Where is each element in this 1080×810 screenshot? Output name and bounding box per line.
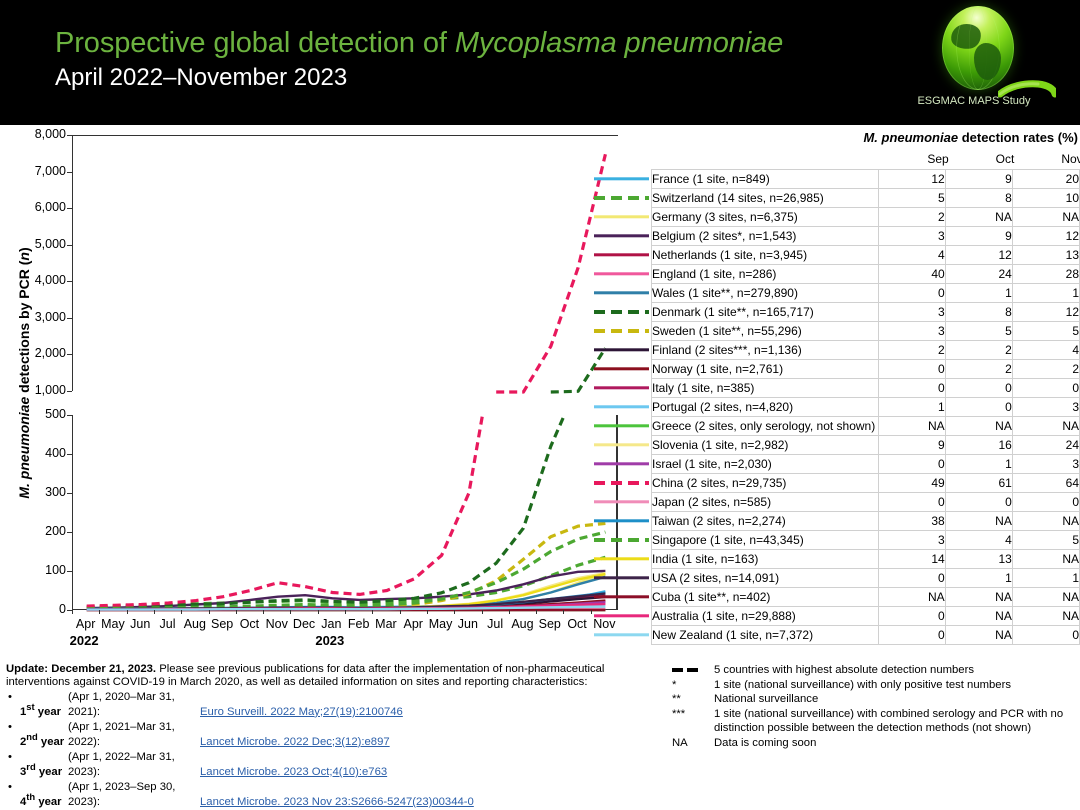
y-tick-label: 7,000 xyxy=(8,165,66,178)
table-row[interactable]: Finland (2 sites***, n=1,136)224 xyxy=(651,341,1080,360)
table-country-label: Cuba (1 site**, n=402) xyxy=(652,588,879,607)
legend-line xyxy=(594,405,649,408)
table-value-oct: 8 xyxy=(945,303,1012,322)
table-country-label: China (2 sites, n=29,735) xyxy=(652,474,879,493)
table-country-label: England (1 site, n=286) xyxy=(652,265,879,284)
publication-row: 1st year(Apr 1, 2020–Mar 31, 2021):Euro … xyxy=(6,690,626,720)
legend-line xyxy=(594,614,649,617)
table-title-rest: detection rates (%) xyxy=(958,130,1078,145)
legend-line xyxy=(594,348,649,351)
table-value-oct: 12 xyxy=(945,246,1012,265)
table-row[interactable]: Wales (1 site**, n=279,890)011 xyxy=(651,284,1080,303)
series-line xyxy=(496,154,605,392)
table-value-oct: NA xyxy=(945,607,1012,626)
table-value-nov: NA xyxy=(1012,208,1079,227)
legend-swatch-cell xyxy=(651,455,652,474)
legend-swatch-cell xyxy=(651,588,652,607)
legend-line xyxy=(594,595,649,598)
y-tick-label: 5,000 xyxy=(8,238,66,251)
year-range: (Apr 1, 2021–Mar 31, 2022): xyxy=(68,720,200,750)
dashed-line-icon xyxy=(672,668,702,672)
legend-line xyxy=(594,386,649,389)
globe-meridian xyxy=(969,6,987,90)
table-value-oct: 24 xyxy=(945,265,1012,284)
y-tick-label: 100 xyxy=(8,564,66,577)
x-axis-year-label: 2023 xyxy=(315,633,344,648)
legend-swatch-cell xyxy=(651,246,652,265)
y-tick-label: 2,000 xyxy=(8,347,66,360)
x-tick-mark xyxy=(536,610,537,614)
table-country-label: Portugal (2 sites, n=4,820) xyxy=(652,398,879,417)
table-value-sep: 0 xyxy=(878,360,945,379)
legend-swatch-cell xyxy=(651,284,652,303)
table-value-sep: NA xyxy=(878,588,945,607)
table-value-nov: 0 xyxy=(1012,493,1079,512)
table-value-nov: 24 xyxy=(1012,436,1079,455)
legend-line xyxy=(594,310,649,314)
x-tick-mark xyxy=(400,610,401,614)
legend-line xyxy=(594,196,649,200)
legend-swatch-cell xyxy=(651,303,652,322)
x-axis-year-label: 2022 xyxy=(70,633,99,648)
year-ordinal: 2nd year xyxy=(20,729,68,750)
table-row[interactable]: Switzerland (14 sites, n=26,985)5810 xyxy=(651,189,1080,208)
table-value-sep: 12 xyxy=(878,170,945,189)
citation-link[interactable]: Euro Surveill. 2022 May;27(19):2100746 xyxy=(200,706,403,718)
table-value-sep: 14 xyxy=(878,550,945,569)
x-tick-mark xyxy=(127,610,128,614)
table-row[interactable]: Italy (1 site, n=385)000 xyxy=(651,379,1080,398)
table-row[interactable]: Israel (1 site, n=2,030)013 xyxy=(651,455,1080,474)
x-tick-mark xyxy=(290,610,291,614)
table-value-sep: 49 xyxy=(878,474,945,493)
citation-link[interactable]: Lancet Microbe. 2022 Dec;3(12):e897 xyxy=(200,736,390,748)
year-range: (Apr 1, 2022–Mar 31, 2023): xyxy=(68,750,200,780)
year-range: (Apr 1, 2023–Sep 30, 2023): xyxy=(68,780,200,810)
table-value-oct: 61 xyxy=(945,474,1012,493)
table-column-header: Nov xyxy=(1052,152,1080,166)
table-country-label: Belgium (2 sites*, n=1,543) xyxy=(652,227,879,246)
legend-swatch-cell xyxy=(651,626,652,645)
table-value-sep: 4 xyxy=(878,246,945,265)
footnote-text: 5 countries with highest absolute detect… xyxy=(714,664,974,676)
table-row[interactable]: Japan (2 sites, n=585)000 xyxy=(651,493,1080,512)
legend-swatch-cell xyxy=(651,512,652,531)
x-tick-label: Sep xyxy=(207,617,237,631)
footnote-marker: * xyxy=(672,678,708,693)
table-title: M. pneumoniae detection rates (%) xyxy=(620,130,1080,145)
table-country-label: Germany (3 sites, n=6,375) xyxy=(652,208,879,227)
table-row[interactable]: Australia (1 site, n=29,888)0NANA xyxy=(651,607,1080,626)
legend-swatch-cell xyxy=(651,474,652,493)
table-value-oct: 1 xyxy=(945,569,1012,588)
x-tick-mark xyxy=(263,610,264,614)
table-value-nov: 1 xyxy=(1012,569,1079,588)
table-value-oct: 5 xyxy=(945,322,1012,341)
legend-swatch-cell xyxy=(651,265,652,284)
x-tick-label: Apr xyxy=(398,617,428,631)
table-value-nov: 3 xyxy=(1012,398,1079,417)
publication-row: 2nd year(Apr 1, 2021–Mar 31, 2022):Lance… xyxy=(6,720,626,750)
table-value-sep: 2 xyxy=(878,208,945,227)
table-value-sep: 3 xyxy=(878,303,945,322)
legend-swatch-cell xyxy=(651,170,652,189)
table-row[interactable]: Germany (3 sites, n=6,375)2NANA xyxy=(651,208,1080,227)
x-tick-mark xyxy=(345,610,346,614)
table-value-nov: 12 xyxy=(1012,303,1079,322)
citation-link[interactable]: Lancet Microbe. 2023 Oct;4(10):e763 xyxy=(200,766,387,778)
x-tick-label: Dec xyxy=(289,617,319,631)
logo: ESGMAC MAPS Study xyxy=(902,2,1052,122)
footnote-marker: *** xyxy=(672,707,708,722)
table-country-label: Israel (1 site, n=2,030) xyxy=(652,455,879,474)
y-tick-label: 400 xyxy=(8,447,66,460)
table-value-sep: 9 xyxy=(878,436,945,455)
x-tick-label: Oct xyxy=(562,617,592,631)
table-country-label: USA (2 sites, n=14,091) xyxy=(652,569,879,588)
legend-line xyxy=(594,481,649,485)
legend-swatch-cell xyxy=(651,208,652,227)
table-value-sep: 3 xyxy=(878,322,945,341)
table-row[interactable]: China (2 sites, n=29,735)496164 xyxy=(651,474,1080,493)
table-value-oct: NA xyxy=(945,588,1012,607)
legend-line xyxy=(594,576,649,579)
table-row[interactable]: England (1 site, n=286)402428 xyxy=(651,265,1080,284)
table-value-nov: 13 xyxy=(1012,246,1079,265)
legend-line xyxy=(594,234,649,237)
x-tick-label: Jun xyxy=(453,617,483,631)
table-title-italic: M. pneumoniae xyxy=(863,130,958,145)
legend-line xyxy=(594,253,649,256)
update-note: Update: December 21, 2023. Please see pr… xyxy=(6,663,626,690)
table-value-nov: 3 xyxy=(1012,455,1079,474)
legend-line xyxy=(594,272,649,275)
legend-swatch-cell xyxy=(651,189,652,208)
footnote-row: NAData is coming soon xyxy=(672,736,1077,751)
x-tick-label: Jan xyxy=(316,617,346,631)
x-tick-label: Mar xyxy=(371,617,401,631)
table-row[interactable]: Cuba (1 site**, n=402)NANANA xyxy=(651,588,1080,607)
table-value-nov: 0 xyxy=(1012,379,1079,398)
legend-swatch-cell xyxy=(651,398,652,417)
legend-line xyxy=(594,177,649,180)
legend-line xyxy=(594,538,649,542)
table-value-sep: 0 xyxy=(878,626,945,645)
table-country-label: Denmark (1 site**, n=165,717) xyxy=(652,303,879,322)
x-tick-label: Aug xyxy=(507,617,537,631)
legend-line xyxy=(594,519,649,522)
y-tick-label: 6,000 xyxy=(8,201,66,214)
title-prefix: Prospective global detection of xyxy=(55,27,455,59)
legend-line xyxy=(594,291,649,294)
table-value-sep: 3 xyxy=(878,227,945,246)
table-value-nov: NA xyxy=(1012,588,1079,607)
y-tick-label: 8,000 xyxy=(8,128,66,141)
legend-line xyxy=(594,557,649,560)
table-value-oct: 0 xyxy=(945,379,1012,398)
plot-area-upper xyxy=(72,135,618,391)
table-value-oct: 0 xyxy=(945,493,1012,512)
table-value-oct: 0 xyxy=(945,398,1012,417)
table-row[interactable]: India (1 site, n=163)1413NA xyxy=(651,550,1080,569)
legend-swatch-cell xyxy=(651,379,652,398)
table-value-nov: NA xyxy=(1012,417,1079,436)
table-value-nov: NA xyxy=(1012,512,1079,531)
table-value-oct: 2 xyxy=(945,360,1012,379)
table-country-label: Switzerland (14 sites, n=26,985) xyxy=(652,189,879,208)
legend-swatch-cell xyxy=(651,550,652,569)
footnote-text: Data is coming soon xyxy=(714,737,816,749)
table-value-nov: 10 xyxy=(1012,189,1079,208)
table-value-nov: 64 xyxy=(1012,474,1079,493)
table-value-oct: 1 xyxy=(945,284,1012,303)
footnote-marker: ** xyxy=(672,692,708,707)
table-row[interactable]: USA (2 sites, n=14,091)011 xyxy=(651,569,1080,588)
page-title: Prospective global detection of Mycoplas… xyxy=(55,27,783,60)
table-value-nov: NA xyxy=(1012,607,1079,626)
x-tick-mark xyxy=(318,610,319,614)
year-ordinal: 1st year xyxy=(20,699,68,720)
logo-caption: ESGMAC MAPS Study xyxy=(904,95,1044,107)
footnote-row: *1 site (national surveillance) with onl… xyxy=(672,678,1077,693)
x-tick-label: Jul xyxy=(480,617,510,631)
publication-row: 3rd year(Apr 1, 2022–Mar 31, 2023):Lance… xyxy=(6,750,626,780)
footnote-marker: NA xyxy=(672,736,708,751)
x-tick-label: Oct xyxy=(234,617,264,631)
page-footer: Update: December 21, 2023. Please see pr… xyxy=(0,655,1080,748)
x-tick-mark xyxy=(591,610,592,614)
footnote-row: ***1 site (national surveillance) with c… xyxy=(672,707,1077,736)
x-tick-mark xyxy=(563,610,564,614)
footnote-text: National surveillance xyxy=(714,693,818,705)
footnote-row: 5 countries with highest absolute detect… xyxy=(672,663,1077,678)
x-tick-mark xyxy=(99,610,100,614)
table-country-label: India (1 site, n=163) xyxy=(652,550,879,569)
table-country-label: Sweden (1 site**, n=55,296) xyxy=(652,322,879,341)
table-country-label: Singapore (1 site, n=43,345) xyxy=(652,531,879,550)
table-value-oct: 1 xyxy=(945,455,1012,474)
table-value-nov: 5 xyxy=(1012,322,1079,341)
table-value-oct: 4 xyxy=(945,531,1012,550)
table-value-sep: 38 xyxy=(878,512,945,531)
x-tick-mark xyxy=(72,610,73,614)
table-value-sep: 1 xyxy=(878,398,945,417)
legend-line xyxy=(594,462,649,465)
legend-swatch-cell xyxy=(651,569,652,588)
table-value-sep: NA xyxy=(878,417,945,436)
table-row[interactable]: Portugal (2 sites, n=4,820)103 xyxy=(651,398,1080,417)
legend-line xyxy=(594,424,649,427)
table-value-nov: 12 xyxy=(1012,227,1079,246)
table-value-sep: 0 xyxy=(878,569,945,588)
x-tick-mark xyxy=(509,610,510,614)
table-value-sep: 3 xyxy=(878,531,945,550)
y-tick-label: 1,000 xyxy=(8,384,66,397)
table-column-header: Sep xyxy=(918,152,958,166)
title-species-italic: Mycoplasma pneumoniae xyxy=(455,27,783,59)
y-tick-label: 300 xyxy=(8,486,66,499)
year-ordinal: 3rd year xyxy=(20,759,68,780)
table-country-label: New Zealand (1 site, n=7,372) xyxy=(652,626,879,645)
legend-swatch-cell xyxy=(651,493,652,512)
x-tick-label: Feb xyxy=(344,617,374,631)
table-row[interactable]: Sweden (1 site**, n=55,296)355 xyxy=(651,322,1080,341)
table-value-sep: 0 xyxy=(878,284,945,303)
table-value-oct: NA xyxy=(945,512,1012,531)
table-value-nov: 1 xyxy=(1012,284,1079,303)
table-value-nov: 4 xyxy=(1012,341,1079,360)
table-value-oct: 8 xyxy=(945,189,1012,208)
table-country-label: Japan (2 sites, n=585) xyxy=(652,493,879,512)
table-country-label: Italy (1 site, n=385) xyxy=(652,379,879,398)
table-value-nov: 2 xyxy=(1012,360,1079,379)
x-tick-mark xyxy=(482,610,483,614)
series-line xyxy=(87,415,565,608)
legend-swatch-cell xyxy=(651,607,652,626)
legend-line xyxy=(594,633,649,636)
x-tick-mark xyxy=(427,610,428,614)
table-country-label: Finland (2 sites***, n=1,136) xyxy=(652,341,879,360)
legend-swatch-cell xyxy=(651,227,652,246)
table-row[interactable]: Slovenia (1 site, n=2,982)91624 xyxy=(651,436,1080,455)
table-value-sep: 0 xyxy=(878,493,945,512)
curves-upper xyxy=(73,136,619,392)
footer-left: Update: December 21, 2023. Please see pr… xyxy=(6,663,626,810)
plot-area-lower xyxy=(72,415,618,610)
year-ordinal: 4th year xyxy=(20,789,68,810)
x-tick-mark xyxy=(236,610,237,614)
page-subtitle: April 2022–November 2023 xyxy=(55,64,347,92)
x-tick-label: Jul xyxy=(153,617,183,631)
curves-lower xyxy=(73,415,619,610)
y-tick-mark xyxy=(67,391,72,392)
table-value-sep: 0 xyxy=(878,607,945,626)
y-tick-label: 0 xyxy=(8,603,66,616)
legend-line xyxy=(594,329,649,333)
table-value-sep: 0 xyxy=(878,379,945,398)
table-value-oct: 2 xyxy=(945,341,1012,360)
footnote-text: 1 site (national surveillance) with comb… xyxy=(714,708,1063,735)
detection-rate-table: M. pneumoniae detection rates (%) SepOct… xyxy=(620,125,1080,655)
table-value-nov: 28 xyxy=(1012,265,1079,284)
table-value-nov: NA xyxy=(1012,550,1079,569)
table-value-sep: 0 xyxy=(878,455,945,474)
table-value-oct: NA xyxy=(945,417,1012,436)
y-tick-label: 500 xyxy=(8,408,66,421)
globe-icon xyxy=(942,6,1014,90)
table-row[interactable]: Norway (1 site, n=2,761)022 xyxy=(651,360,1080,379)
x-tick-label: May xyxy=(426,617,456,631)
x-tick-label: May xyxy=(98,617,128,631)
x-tick-label: Nov xyxy=(589,617,619,631)
page-header: Prospective global detection of Mycoplas… xyxy=(0,0,1080,125)
table-value-oct: NA xyxy=(945,626,1012,645)
table-country-label: Norway (1 site, n=2,761) xyxy=(652,360,879,379)
table-value-oct: 9 xyxy=(945,170,1012,189)
year-range: (Apr 1, 2020–Mar 31, 2021): xyxy=(68,690,200,720)
table-value-sep: 2 xyxy=(878,341,945,360)
y-tick-label: 200 xyxy=(8,525,66,538)
table-row[interactable]: Netherlands (1 site, n=3,945)41213 xyxy=(651,246,1080,265)
footnote-text: 1 site (national surveillance) with only… xyxy=(714,679,1011,691)
y-tick-label: 4,000 xyxy=(8,274,66,287)
x-tick-mark xyxy=(209,610,210,614)
table-row[interactable]: Taiwan (2 sites, n=2,274)38NANA xyxy=(651,512,1080,531)
publication-list: 1st year(Apr 1, 2020–Mar 31, 2021):Euro … xyxy=(6,690,626,810)
table-value-oct: NA xyxy=(945,208,1012,227)
legend-swatch-cell xyxy=(651,360,652,379)
update-bold: Update: December 21, 2023. xyxy=(6,663,156,675)
x-tick-label: Aug xyxy=(180,617,210,631)
table-row[interactable]: Greece (2 sites, only serology, not show… xyxy=(651,417,1080,436)
table-value-sep: 40 xyxy=(878,265,945,284)
table-column-header: Oct xyxy=(985,152,1025,166)
footnote-row: **National surveillance xyxy=(672,692,1077,707)
x-tick-mark xyxy=(154,610,155,614)
legend-swatch-cell xyxy=(651,417,652,436)
table-value-oct: 16 xyxy=(945,436,1012,455)
x-tick-mark xyxy=(454,610,455,614)
legend-line xyxy=(594,500,649,503)
y-axis-ticks: 8,0007,0006,0005,0004,0003,0002,0001,000… xyxy=(8,125,66,625)
x-tick-label: Nov xyxy=(262,617,292,631)
table-value-sep: 5 xyxy=(878,189,945,208)
chart: M. pneumoniae detections by PCR (n) 8,00… xyxy=(0,125,620,655)
table-country-label: Slovenia (1 site, n=2,982) xyxy=(652,436,879,455)
x-tick-label: Jun xyxy=(125,617,155,631)
legend-line xyxy=(594,443,649,446)
table-country-label: France (1 site, n=849) xyxy=(652,170,879,189)
table-value-nov: 0 xyxy=(1012,626,1079,645)
publication-row: 4th year(Apr 1, 2023–Sep 30, 2023):Lance… xyxy=(6,780,626,810)
table-value-oct: 9 xyxy=(945,227,1012,246)
table-country-label: Taiwan (2 sites, n=2,274) xyxy=(652,512,879,531)
table-row[interactable]: Singapore (1 site, n=43,345)345 xyxy=(651,531,1080,550)
footer-right: 5 countries with highest absolute detect… xyxy=(672,663,1077,751)
table-row[interactable]: Denmark (1 site**, n=165,717)3812 xyxy=(651,303,1080,322)
legend-line xyxy=(594,367,649,370)
citation-link[interactable]: Lancet Microbe. 2023 Nov 23:S2666-5247(2… xyxy=(200,796,474,808)
table-row[interactable]: France (1 site, n=849)12920 xyxy=(651,170,1080,189)
legend-swatch-cell xyxy=(651,436,652,455)
table-row[interactable]: Belgium (2 sites*, n=1,543)3912 xyxy=(651,227,1080,246)
series-line xyxy=(87,415,483,606)
y-tick-label: 3,000 xyxy=(8,311,66,324)
table-country-label: Netherlands (1 site, n=3,945) xyxy=(652,246,879,265)
x-tick-mark xyxy=(181,610,182,614)
x-tick-label: Apr xyxy=(71,617,101,631)
table-body: France (1 site, n=849)12920Switzerland (… xyxy=(651,169,1080,645)
table-row[interactable]: New Zealand (1 site, n=7,372)0NA0 xyxy=(651,626,1080,645)
legend-swatch-cell xyxy=(651,531,652,550)
table-country-label: Wales (1 site**, n=279,890) xyxy=(652,284,879,303)
table-value-nov: 5 xyxy=(1012,531,1079,550)
x-tick-mark xyxy=(372,610,373,614)
legend-swatch-cell xyxy=(651,341,652,360)
table-value-oct: 13 xyxy=(945,550,1012,569)
table-country-label: Greece (2 sites, only serology, not show… xyxy=(652,417,879,436)
legend-line xyxy=(594,215,649,218)
x-tick-label: Sep xyxy=(535,617,565,631)
table-country-label: Australia (1 site, n=29,888) xyxy=(652,607,879,626)
legend-swatch-cell xyxy=(651,322,652,341)
table-value-nov: 20 xyxy=(1012,170,1079,189)
